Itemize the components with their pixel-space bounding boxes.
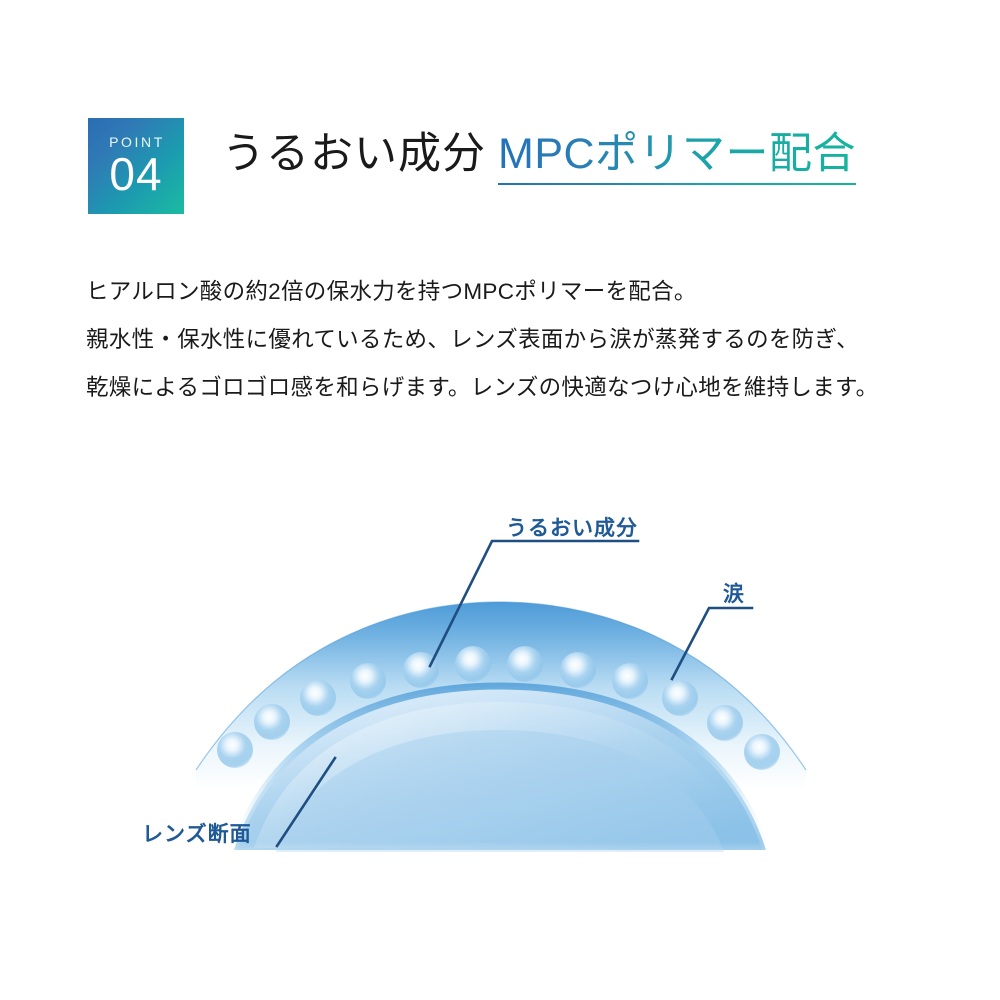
polymer-bead [744,734,780,770]
body-line-2: 親水性・保水性に優れているため、レンズ表面から涙が蒸発するのを防ぎ、 [86,316,878,364]
polymer-bead [662,680,698,716]
polymer-bead [507,646,543,682]
diagram-label-lens-cross-section: レンズ断面 [142,818,252,848]
page-root: { "badge": { "word": "POINT", "number": … [0,0,1000,1000]
polymer-bead [217,732,253,768]
polymer-bead [612,663,648,699]
heading-plain-text: うるおい成分 [222,132,486,177]
polymer-bead [300,680,336,716]
point-badge-word: POINT [107,135,165,149]
heading-highlight-wrap: MPCポリマー配合 [498,132,856,185]
heading-highlight-text: MPCポリマー配合 [498,130,856,178]
heading-underline [498,183,856,185]
point-badge: POINT 04 [88,118,184,214]
polymer-bead [455,646,491,682]
diagram-label-tear: 涙 [723,578,745,608]
polymer-bead [350,663,386,699]
body-line-3: 乾燥によるゴロゴロ感を和らげます。レンズの快適なつけ心地を維持します。 [86,364,878,412]
point-badge-number: 04 [109,153,162,197]
heading-wrap: うるおい成分 MPCポリマー配合 [222,118,856,185]
polymer-bead [707,705,743,741]
body-line-1: ヒアルロン酸の約2倍の保水力を持つMPCポリマーを配合。 [86,268,878,316]
polymer-bead [254,704,290,740]
diagram-label-moisture: うるおい成分 [506,512,638,542]
polymer-bead [560,652,596,688]
point-header: POINT 04 うるおい成分 MPCポリマー配合 [88,118,856,214]
body-paragraph: ヒアルロン酸の約2倍の保水力を持つMPCポリマーを配合。 親水性・保水性に優れて… [86,268,878,412]
page-title: うるおい成分 MPCポリマー配合 [222,132,856,185]
lens-cross-section-diagram: うるおい成分 涙 レンズ断面 [0,480,1000,880]
